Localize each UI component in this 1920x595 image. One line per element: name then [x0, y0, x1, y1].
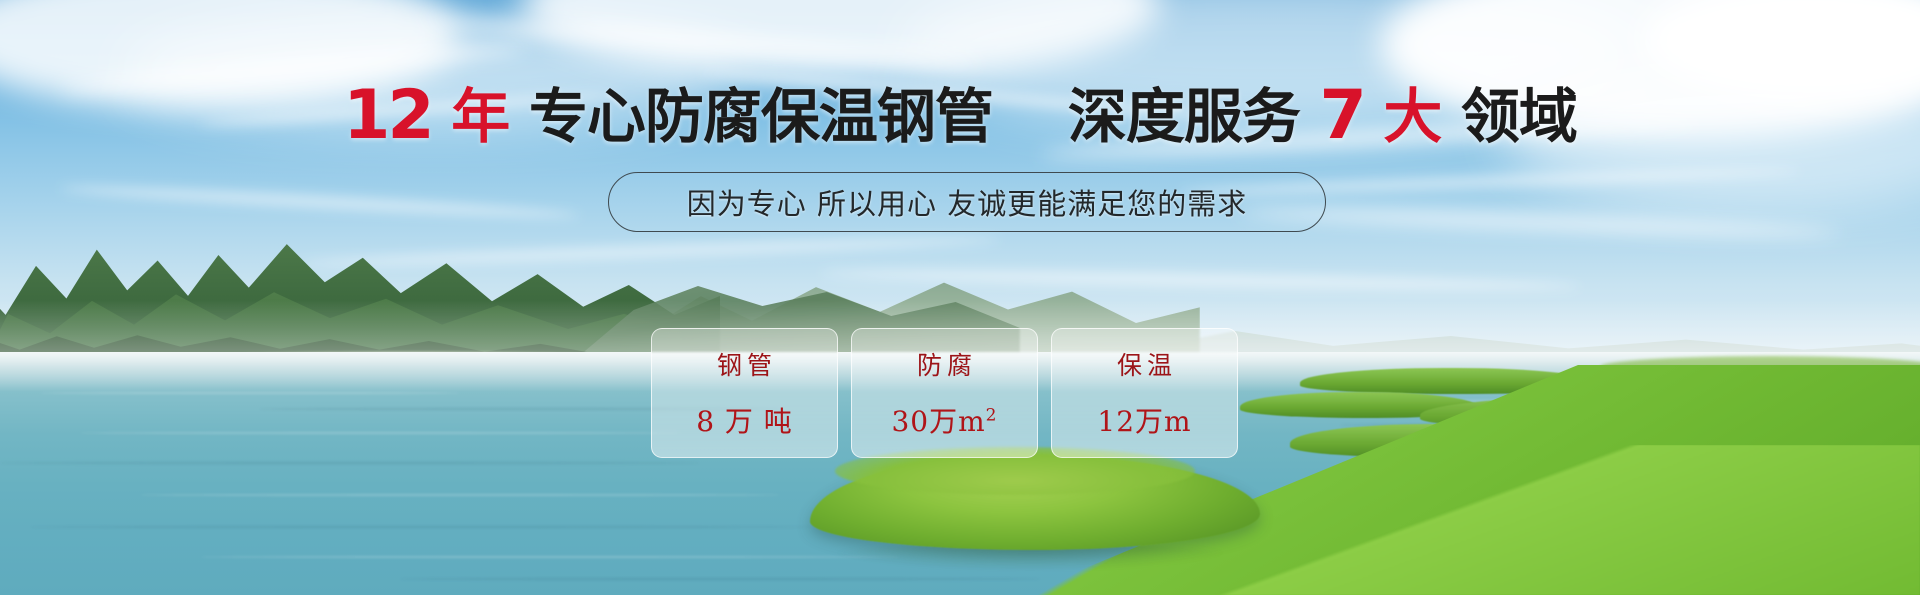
headline: 12 年 专心防腐保温钢管 深度服务 7 大 领域: [0, 82, 1920, 150]
stat-card-label: 钢管: [712, 346, 777, 382]
stat-card-value-text: 12万m: [1097, 405, 1191, 438]
headline-years-unit: 年: [451, 87, 509, 146]
stat-card-list: 钢管 8 万 吨 防腐 30万m2 保温 12万m: [651, 328, 1238, 458]
water-ripple: [40, 392, 460, 394]
stat-card-value-text: 30万m: [891, 405, 985, 438]
headline-middle: 专心防腐保温钢管: [529, 87, 993, 146]
subtitle-pill: 因为专心 所以用心 友诚更能满足您的需求: [608, 172, 1326, 232]
water-ripple: [80, 432, 680, 434]
stat-card-insulation[interactable]: 保温 12万m: [1051, 328, 1238, 458]
stat-card-label: 防腐: [912, 346, 977, 382]
water-ripple: [140, 494, 780, 496]
stat-card-value: 12万m: [1097, 400, 1191, 440]
stat-card-label: 保温: [1112, 346, 1177, 382]
headline-fields-number: 7: [1319, 82, 1363, 150]
water-ripple: [200, 556, 900, 558]
stat-card-value: 8 万 吨: [696, 400, 793, 440]
headline-second-part: 深度服务: [1068, 87, 1300, 146]
water-ripple: [400, 578, 1040, 580]
stat-card-anticorrosion[interactable]: 防腐 30万m2: [851, 328, 1038, 458]
water-ripple: [0, 462, 700, 464]
stat-card-value: 30万m2: [891, 400, 997, 440]
promo-banner: 12 年 专心防腐保温钢管 深度服务 7 大 领域 因为专心 所以用心 友诚更能…: [0, 0, 1920, 595]
subtitle-text: 因为专心 所以用心 友诚更能满足您的需求: [687, 181, 1247, 223]
stat-card-steel-pipe[interactable]: 钢管 8 万 吨: [651, 328, 838, 458]
headline-tail: 领域: [1461, 87, 1577, 146]
headline-years-number: 12: [343, 82, 432, 150]
headline-fields-unit: 大: [1383, 87, 1441, 146]
stat-card-value-text: 8 万 吨: [696, 405, 793, 438]
water-ripple: [30, 526, 810, 528]
stat-card-value-superscript: 2: [986, 406, 998, 426]
